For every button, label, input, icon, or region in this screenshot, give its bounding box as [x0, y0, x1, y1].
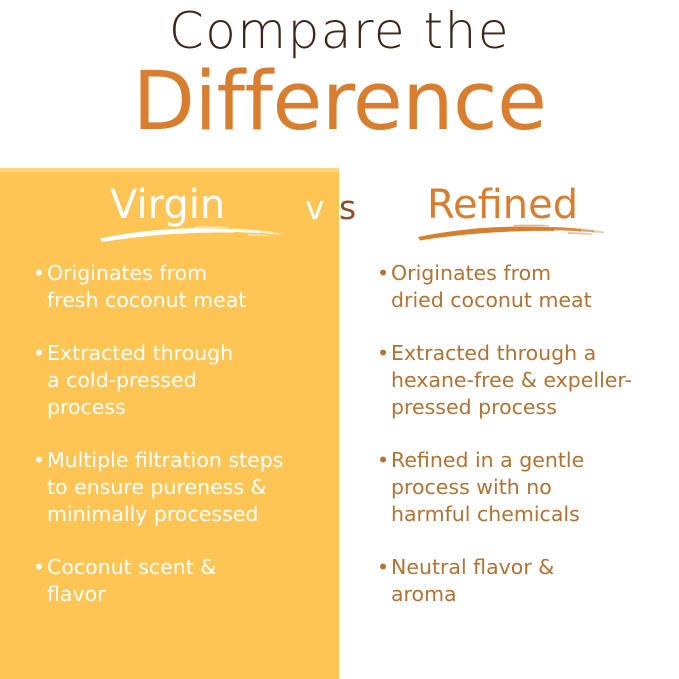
- bullet-dot-icon: •: [377, 554, 391, 581]
- refined-brush-stroke-icon: [416, 222, 608, 244]
- virgin-panel-top-band: [0, 168, 339, 172]
- page-title-line-2: Difference: [0, 54, 679, 150]
- list-item-text: Originates from fresh coconut meat: [47, 260, 333, 314]
- list-item-text: Extracted through a hexane-free & expell…: [391, 340, 669, 421]
- list-item: • Neutral flavor & aroma: [377, 554, 669, 608]
- title-block: Compare the Difference: [0, 0, 679, 160]
- list-item: • Coconut scent & flavor: [33, 554, 333, 608]
- virgin-column-header: Virgin: [110, 182, 225, 228]
- comparison-infographic: Compare the Difference Virgin v s Refine…: [0, 0, 679, 679]
- bullet-dot-icon: •: [33, 260, 47, 287]
- virgin-brush-stroke-icon: [98, 224, 286, 246]
- virgin-bullet-list: • Originates from fresh coconut meat • E…: [33, 260, 333, 634]
- bullet-dot-icon: •: [377, 260, 391, 287]
- page-title-line-1: Compare the: [0, 2, 679, 60]
- list-item: • Originates from fresh coconut meat: [33, 260, 333, 314]
- list-item-text: Neutral flavor & aroma: [391, 554, 669, 608]
- bullet-dot-icon: •: [377, 447, 391, 474]
- list-item: • Refined in a gentle process with no ha…: [377, 447, 669, 528]
- list-item-text: Originates from dried coconut meat: [391, 260, 669, 314]
- list-item: • Extracted through a hexane-free & expe…: [377, 340, 669, 421]
- vs-separator-first-half: v: [305, 188, 325, 228]
- list-item-text: Multiple filtration steps to ensure pure…: [47, 447, 333, 528]
- list-item: • Multiple filtration steps to ensure pu…: [33, 447, 333, 528]
- bullet-dot-icon: •: [377, 340, 391, 367]
- list-item: • Originates from dried coconut meat: [377, 260, 669, 314]
- bullet-dot-icon: •: [33, 554, 47, 581]
- vs-separator-second-half: s: [339, 188, 356, 228]
- list-item-text: Extracted through a cold-pressed process: [47, 340, 333, 421]
- bullet-dot-icon: •: [33, 447, 47, 474]
- list-item: • Extracted through a cold-pressed proce…: [33, 340, 333, 421]
- refined-bullet-list: • Originates from dried coconut meat • E…: [377, 260, 669, 634]
- bullet-dot-icon: •: [33, 340, 47, 367]
- list-item-text: Refined in a gentle process with no harm…: [391, 447, 669, 528]
- list-item-text: Coconut scent & flavor: [47, 554, 333, 608]
